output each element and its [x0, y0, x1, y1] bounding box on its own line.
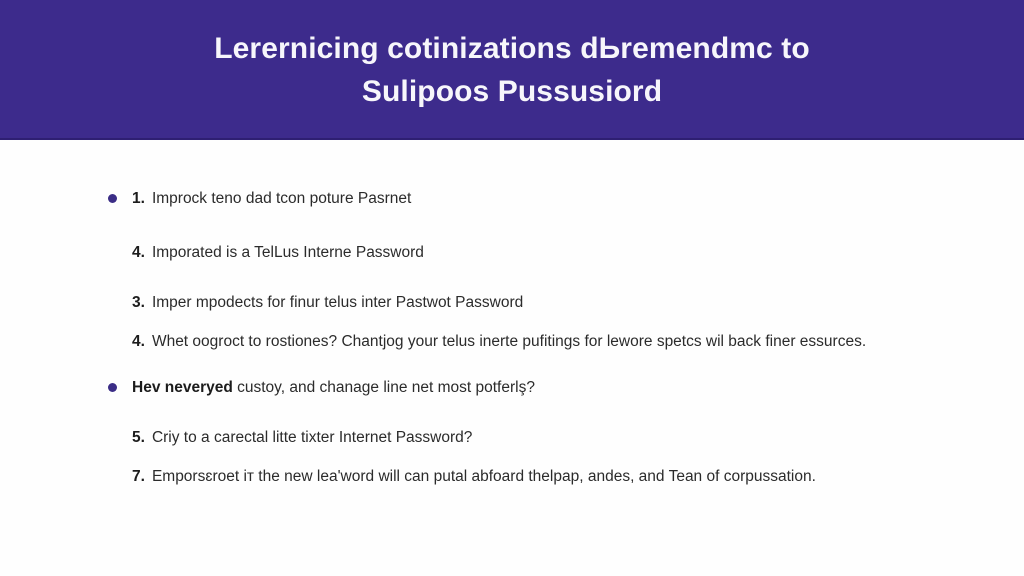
instruction-list: 1. Improck teno dad tcon poture Pasrnet … — [104, 186, 894, 489]
list-item-text: Criy to a carectal litte tixter Internet… — [152, 425, 894, 450]
list-item-text: Imporated is a TelLus Interne Password — [152, 240, 894, 265]
list-item: 4. Imporated is a TelLus Interne Passwor… — [104, 240, 894, 265]
list-item: 3. Imper mpodects for finur telus inter … — [104, 290, 894, 315]
page-title-line-2: Sulipoos Pussusiord — [362, 70, 662, 114]
list-item-body-text: custoy, and chanage line net most potfer… — [233, 379, 535, 396]
document-body: 1. Improck teno dad tcon poture Pasrnet … — [0, 140, 1024, 576]
list-item-marker: 1. — [132, 186, 145, 211]
list-item-text: Improck teno dad tcon poture Pasrnet — [152, 186, 894, 211]
list-item-text: Whet oogroct to rostiones? Chantjog your… — [152, 329, 894, 354]
list-item-marker: 3. — [132, 290, 145, 315]
list-item: 7. Emporsɛroet iт the new lea'word will … — [104, 464, 894, 489]
list-item: 4. Whet oogroct to rostiones? Chantjog y… — [104, 329, 894, 354]
page-title-line-1: Lerernicing cotinizations dЬremendmc to — [214, 27, 810, 71]
list-item-marker: 7. — [132, 464, 145, 489]
list-item-text: Imper mpodects for finur telus inter Pas… — [152, 290, 894, 315]
list-item-text: Emporsɛroet iт the new lea'word will can… — [152, 464, 894, 489]
list-item-text: Hev neveryed custoy, and chanage line ne… — [132, 375, 894, 400]
document-page: Lerernicing cotinizations dЬremendmc to … — [0, 0, 1024, 576]
list-item: 1. Improck teno dad tcon poture Pasrnet — [104, 186, 894, 211]
list-item: 5. Criy to a carectal litte tixter Inter… — [104, 425, 894, 450]
list-item-marker: 4. — [132, 329, 145, 354]
list-item-marker: 5. — [132, 425, 145, 450]
list-item-highlighted: Hev neveryed custoy, and chanage line ne… — [104, 375, 894, 400]
list-item-marker: 4. — [132, 240, 145, 265]
list-item-lead-text: Hev neveryed — [132, 379, 233, 396]
page-header-banner: Lerernicing cotinizations dЬremendmc to … — [0, 0, 1024, 140]
bullet-dot-icon — [108, 194, 117, 203]
bullet-dot-icon — [108, 383, 117, 392]
